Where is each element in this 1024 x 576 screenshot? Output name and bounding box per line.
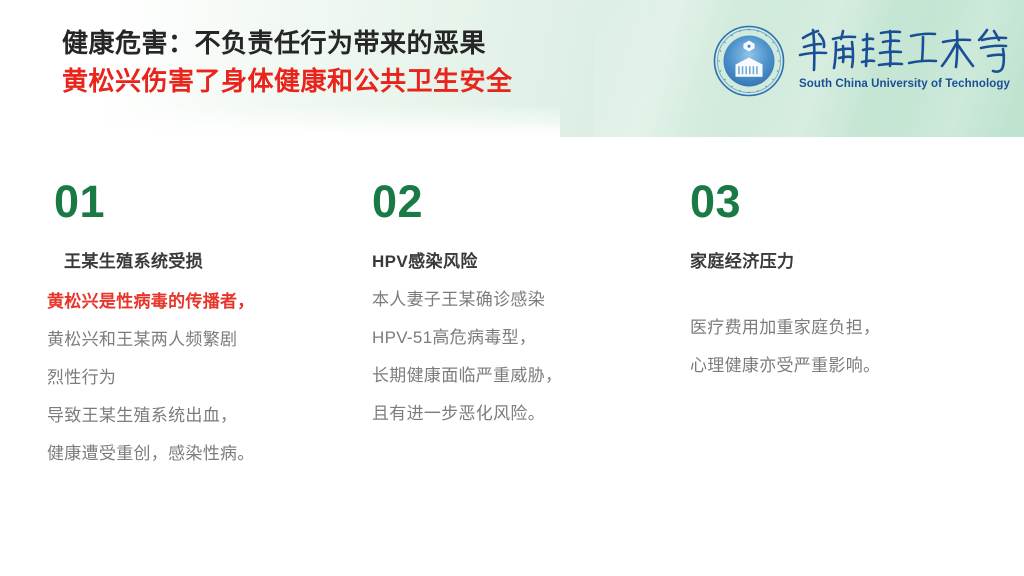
body-line: 医疗费用加重家庭负担，	[690, 309, 986, 347]
column-number-01: 01	[54, 176, 344, 228]
column-body-02: 本人妻子王某确诊感染 HPV-51高危病毒型， 长期健康面临严重威胁， 且有进一…	[372, 281, 658, 433]
body-line: 且有进一步恶化风险。	[372, 395, 658, 433]
slide-canvas: 健康危害：不负责任行为带来的恶果 黄松兴伤害了身体健康和公共卫生安全	[0, 0, 1024, 576]
title-line-primary: 健康危害：不负责任行为带来的恶果	[62, 24, 702, 62]
page-title: 健康危害：不负责任行为带来的恶果 黄松兴伤害了身体健康和公共卫生安全	[62, 24, 702, 100]
column-number-02: 02	[372, 176, 658, 228]
body-line: 心理健康亦受严重影响。	[690, 347, 986, 385]
column-number-03: 03	[690, 176, 986, 228]
body-line: 本人妻子王某确诊感染	[372, 281, 658, 319]
column-body-01: 黄松兴是性病毒的传播者， 黄松兴和王某两人频繁剧 烈性行为 导致王某生殖系统出血…	[47, 283, 344, 473]
content-column-02: 02 HPV感染风险 本人妻子王某确诊感染 HPV-51高危病毒型， 长期健康面…	[368, 176, 658, 433]
title-line-secondary: 黄松兴伤害了身体健康和公共卫生安全	[62, 62, 702, 100]
university-logo: South China University of Technology	[713, 20, 1013, 105]
body-line: 黄松兴是性病毒的传播者，	[47, 283, 344, 321]
university-name-en: South China University of Technology	[799, 78, 1013, 90]
university-name-cn-icon	[797, 22, 1013, 78]
body-line: 导致王某生殖系统出血，	[47, 397, 344, 435]
content-column-01: 01 王某生殖系统受损 黄松兴是性病毒的传播者， 黄松兴和王某两人频繁剧 烈性行…	[44, 176, 344, 473]
body-line: HPV-51高危病毒型，	[372, 319, 658, 357]
body-line: 烈性行为	[47, 359, 344, 397]
column-body-03: 医疗费用加重家庭负担， 心理健康亦受严重影响。	[690, 309, 986, 385]
content-column-03: 03 家庭经济压力 医疗费用加重家庭负担， 心理健康亦受严重影响。	[686, 176, 986, 385]
body-line: 黄松兴和王某两人频繁剧	[47, 321, 344, 359]
body-line: 长期健康面临严重威胁，	[372, 357, 658, 395]
body-line: 健康遭受重创，感染性病。	[47, 435, 344, 473]
column-heading-03: 家庭经济压力	[690, 250, 986, 274]
scut-seal-emblem-icon	[713, 25, 785, 97]
column-heading-01: 王某生殖系统受损	[64, 250, 344, 274]
column-heading-02: HPV感染风险	[372, 250, 658, 274]
